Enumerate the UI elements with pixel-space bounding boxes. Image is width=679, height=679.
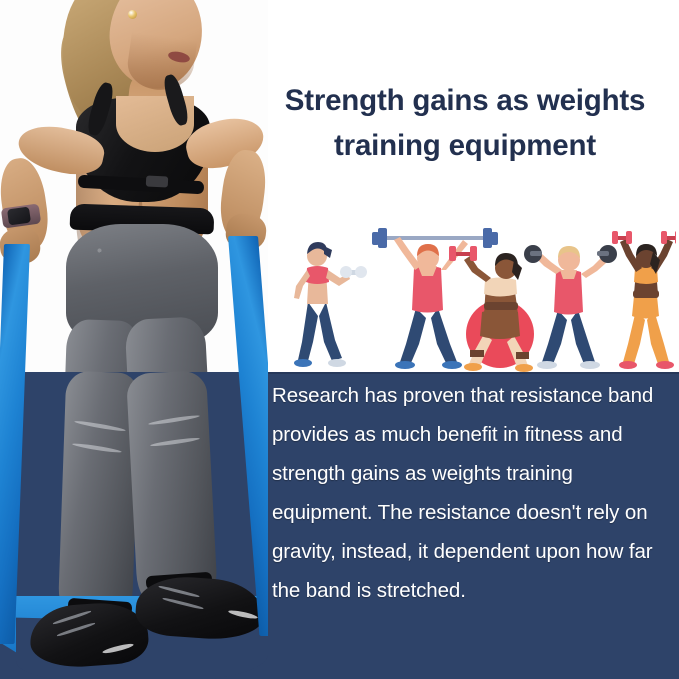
headline: Strength gains as weights training equip… xyxy=(258,78,672,168)
resistance-band-left-strand xyxy=(0,244,30,644)
figure-woman-dumbbell-curl xyxy=(294,242,367,367)
resistance-band-right-strand xyxy=(228,236,268,636)
right-lower-leg xyxy=(126,370,218,606)
barbell-icon xyxy=(372,228,498,248)
product-infographic: Strength gains as weights training equip… xyxy=(0,0,679,679)
dumbbell-icon xyxy=(340,266,367,278)
dumbbell-icon xyxy=(524,245,542,263)
figure-man-shoulder-press xyxy=(524,245,617,369)
headline-line-1: Strength gains as weights xyxy=(258,78,672,123)
figure-woman-arms-raised xyxy=(612,231,676,369)
figure-woman-exercise-ball xyxy=(449,246,534,372)
headline-line-2: training equipment xyxy=(258,123,672,168)
body-paragraph: Research has proven that resistance band… xyxy=(272,376,672,610)
athlete-photo-lower xyxy=(0,0,268,679)
exercise-figures-illustration xyxy=(286,224,676,374)
